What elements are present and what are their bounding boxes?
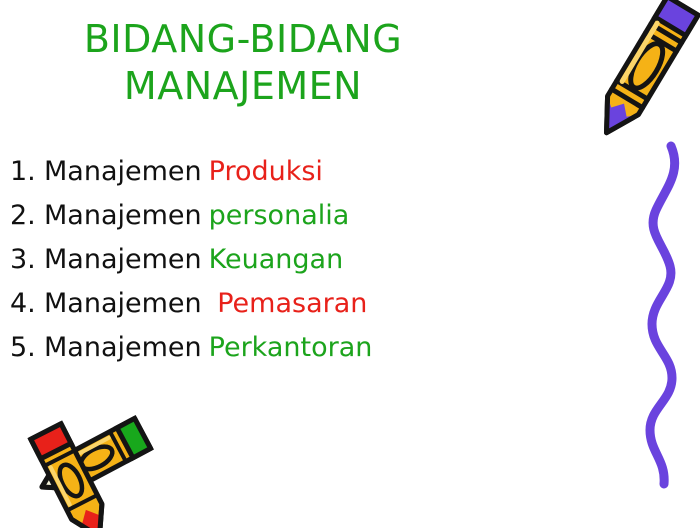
list-item: 5. Manajemen Perkantoran (0, 331, 500, 375)
list-item-number: 3. (0, 243, 44, 277)
list-item: 1. Manajemen Produksi (0, 155, 500, 199)
list-item-number: 1. (0, 155, 44, 189)
list-item-base-text: Manajemen (44, 331, 202, 365)
crayon-red-icon (31, 424, 115, 528)
crayon-purple-icon (575, 0, 700, 162)
list-item-keyword: personalia (202, 199, 350, 233)
list-item-keyword: Produksi (202, 155, 323, 189)
management-fields-list: 1. Manajemen Produksi 2. Manajemen perso… (0, 155, 500, 375)
list-item-base-text: Manajemen (44, 287, 202, 321)
list-item: 2. Manajemen personalia (0, 199, 500, 243)
list-item-number: 2. (0, 199, 44, 233)
list-item-number: 4. (0, 287, 44, 321)
page-title: BIDANG-BIDANG MANAJEMEN (8, 16, 478, 110)
slide-canvas: BIDANG-BIDANG MANAJEMEN 1. Manajemen Pro… (0, 0, 700, 525)
squiggle-line-icon (630, 140, 700, 490)
list-item-keyword: Perkantoran (202, 331, 373, 365)
list-item: 4. Manajemen Pemasaran (0, 287, 500, 331)
list-item-base-text: Manajemen (44, 243, 202, 277)
list-item-base-text: Manajemen (44, 155, 202, 189)
list-item-number: 5. (0, 331, 44, 365)
crayons-pair-icon (2, 408, 192, 528)
list-item: 3. Manajemen Keuangan (0, 243, 500, 287)
list-item-base-text: Manajemen (44, 199, 202, 233)
list-item-keyword: Pemasaran (202, 287, 368, 321)
list-item-keyword: Keuangan (202, 243, 344, 277)
crayon-green-icon (34, 418, 151, 502)
